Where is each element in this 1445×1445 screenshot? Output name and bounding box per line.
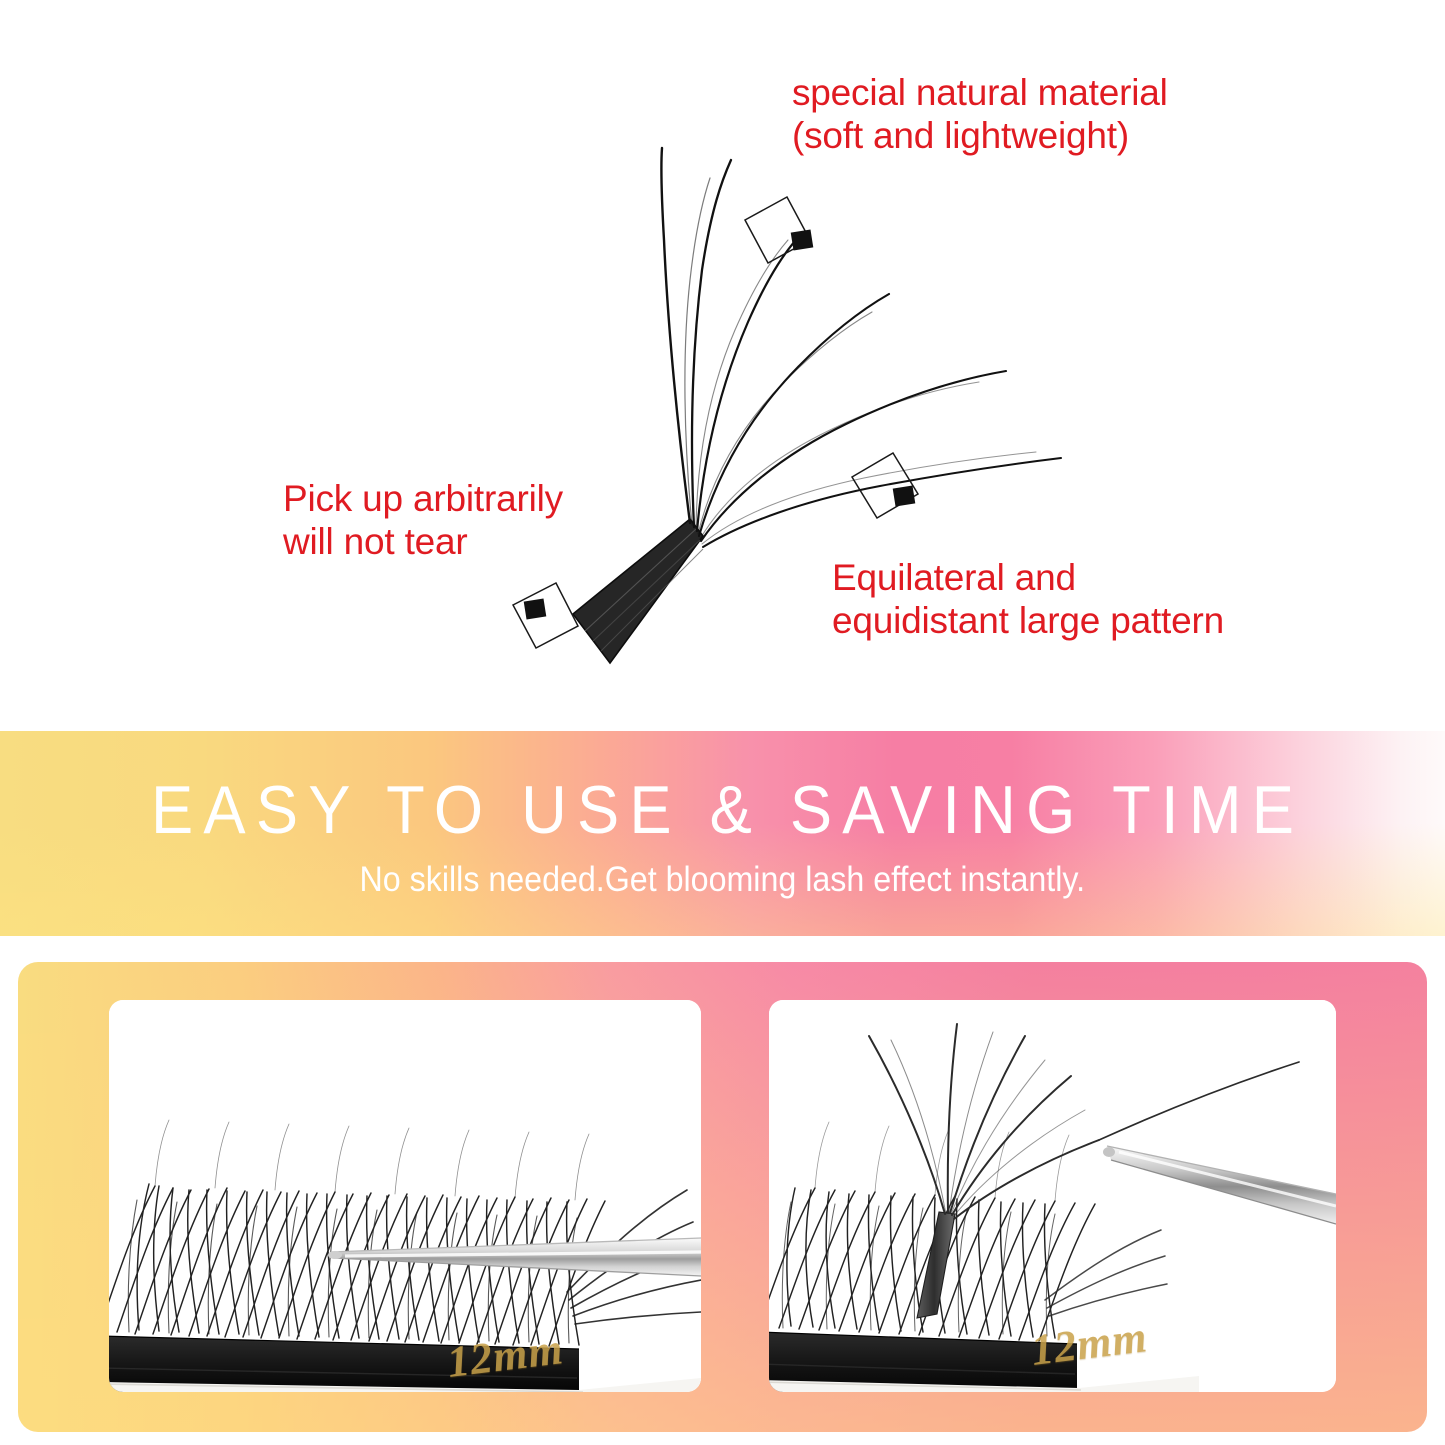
diagram-section: special natural material (soft and light… [0, 0, 1445, 712]
lash-fibers [661, 148, 1061, 547]
banner-headline: EASY TO USE & SAVING TIME [141, 776, 1304, 844]
lash-fan-illustration [0, 0, 1445, 712]
marker-material-dot [791, 230, 814, 251]
banner-subheadline: No skills needed.Get blooming lash effec… [360, 862, 1085, 897]
photos-panel: 12mm [18, 962, 1427, 1432]
marker-pattern-dot [893, 486, 916, 507]
photo-card-lash-fan-pickup: 12mm [769, 1000, 1336, 1392]
banner-text-block: EASY TO USE & SAVING TIME No skills need… [0, 731, 1445, 936]
callout-pick-up-arbitrarily: Pick up arbitrarily will not tear [283, 478, 563, 564]
photo-card-lash-tray: 12mm [109, 1000, 701, 1392]
marker-pickup-dot [524, 599, 547, 620]
callout-equilateral-equidistant: Equilateral and equidistant large patter… [832, 557, 1224, 643]
lash-base-strip [573, 519, 703, 663]
callout-special-natural-material: special natural material (soft and light… [792, 72, 1168, 158]
banner-section: EASY TO USE & SAVING TIME No skills need… [0, 731, 1445, 936]
lash-tray-photo [109, 1000, 701, 1392]
